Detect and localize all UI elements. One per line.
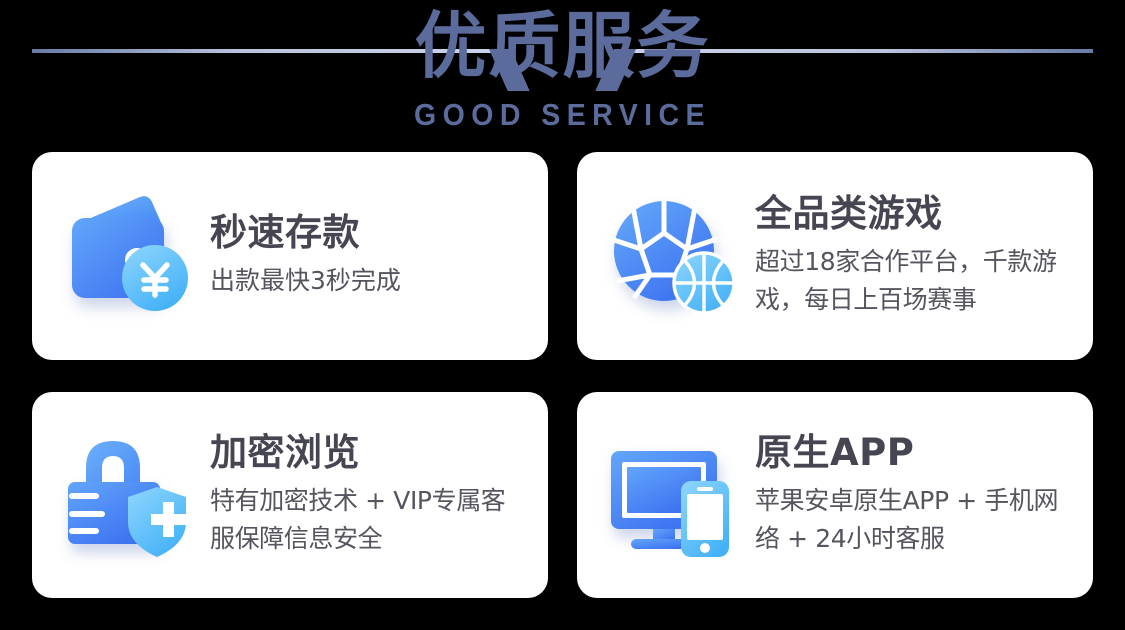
card-title: 加密浏览: [210, 430, 526, 476]
card-title: 秒速存款: [210, 210, 526, 256]
soccer-basketball-icon: [603, 185, 745, 327]
card-text-block: 全品类游戏 超过18家合作平台，千款游戏，每日上百场赛事: [755, 191, 1071, 321]
page-title: 优质服务: [0, 6, 1125, 86]
monitor-phone-icon: [603, 424, 745, 566]
card-text-block: 秒速存款 出款最快3秒完成: [210, 210, 526, 302]
card-title: 原生APP: [755, 430, 1071, 476]
wallet-yen-icon: [58, 185, 200, 327]
feature-card-deposit[interactable]: 秒速存款 出款最快3秒完成: [32, 152, 548, 360]
lock-shield-icon: [58, 424, 200, 566]
card-description: 苹果安卓原生APP + 手机网络 + 24小时客服: [755, 482, 1071, 558]
promo-page: 优质服务 GOOD SERVICE: [0, 0, 1125, 630]
card-description: 超过18家合作平台，千款游戏，每日上百场赛事: [755, 243, 1071, 319]
card-description: 特有加密技术 + VIP专属客服保障信息安全: [210, 482, 526, 558]
card-description: 出款最快3秒完成: [210, 262, 526, 300]
card-title: 全品类游戏: [755, 191, 1071, 237]
card-text-block: 加密浏览 特有加密技术 + VIP专属客服保障信息安全: [210, 430, 526, 560]
feature-card-encryption[interactable]: 加密浏览 特有加密技术 + VIP专属客服保障信息安全: [32, 392, 548, 598]
card-text-block: 原生APP 苹果安卓原生APP + 手机网络 + 24小时客服: [755, 430, 1071, 560]
feature-card-grid: 秒速存款 出款最快3秒完成: [32, 152, 1093, 598]
page-subtitle: GOOD SERVICE: [45, 97, 1080, 133]
feature-card-games[interactable]: 全品类游戏 超过18家合作平台，千款游戏，每日上百场赛事: [577, 152, 1093, 360]
page-header: 优质服务 GOOD SERVICE: [0, 0, 1125, 150]
feature-card-native-app[interactable]: 原生APP 苹果安卓原生APP + 手机网络 + 24小时客服: [577, 392, 1093, 598]
